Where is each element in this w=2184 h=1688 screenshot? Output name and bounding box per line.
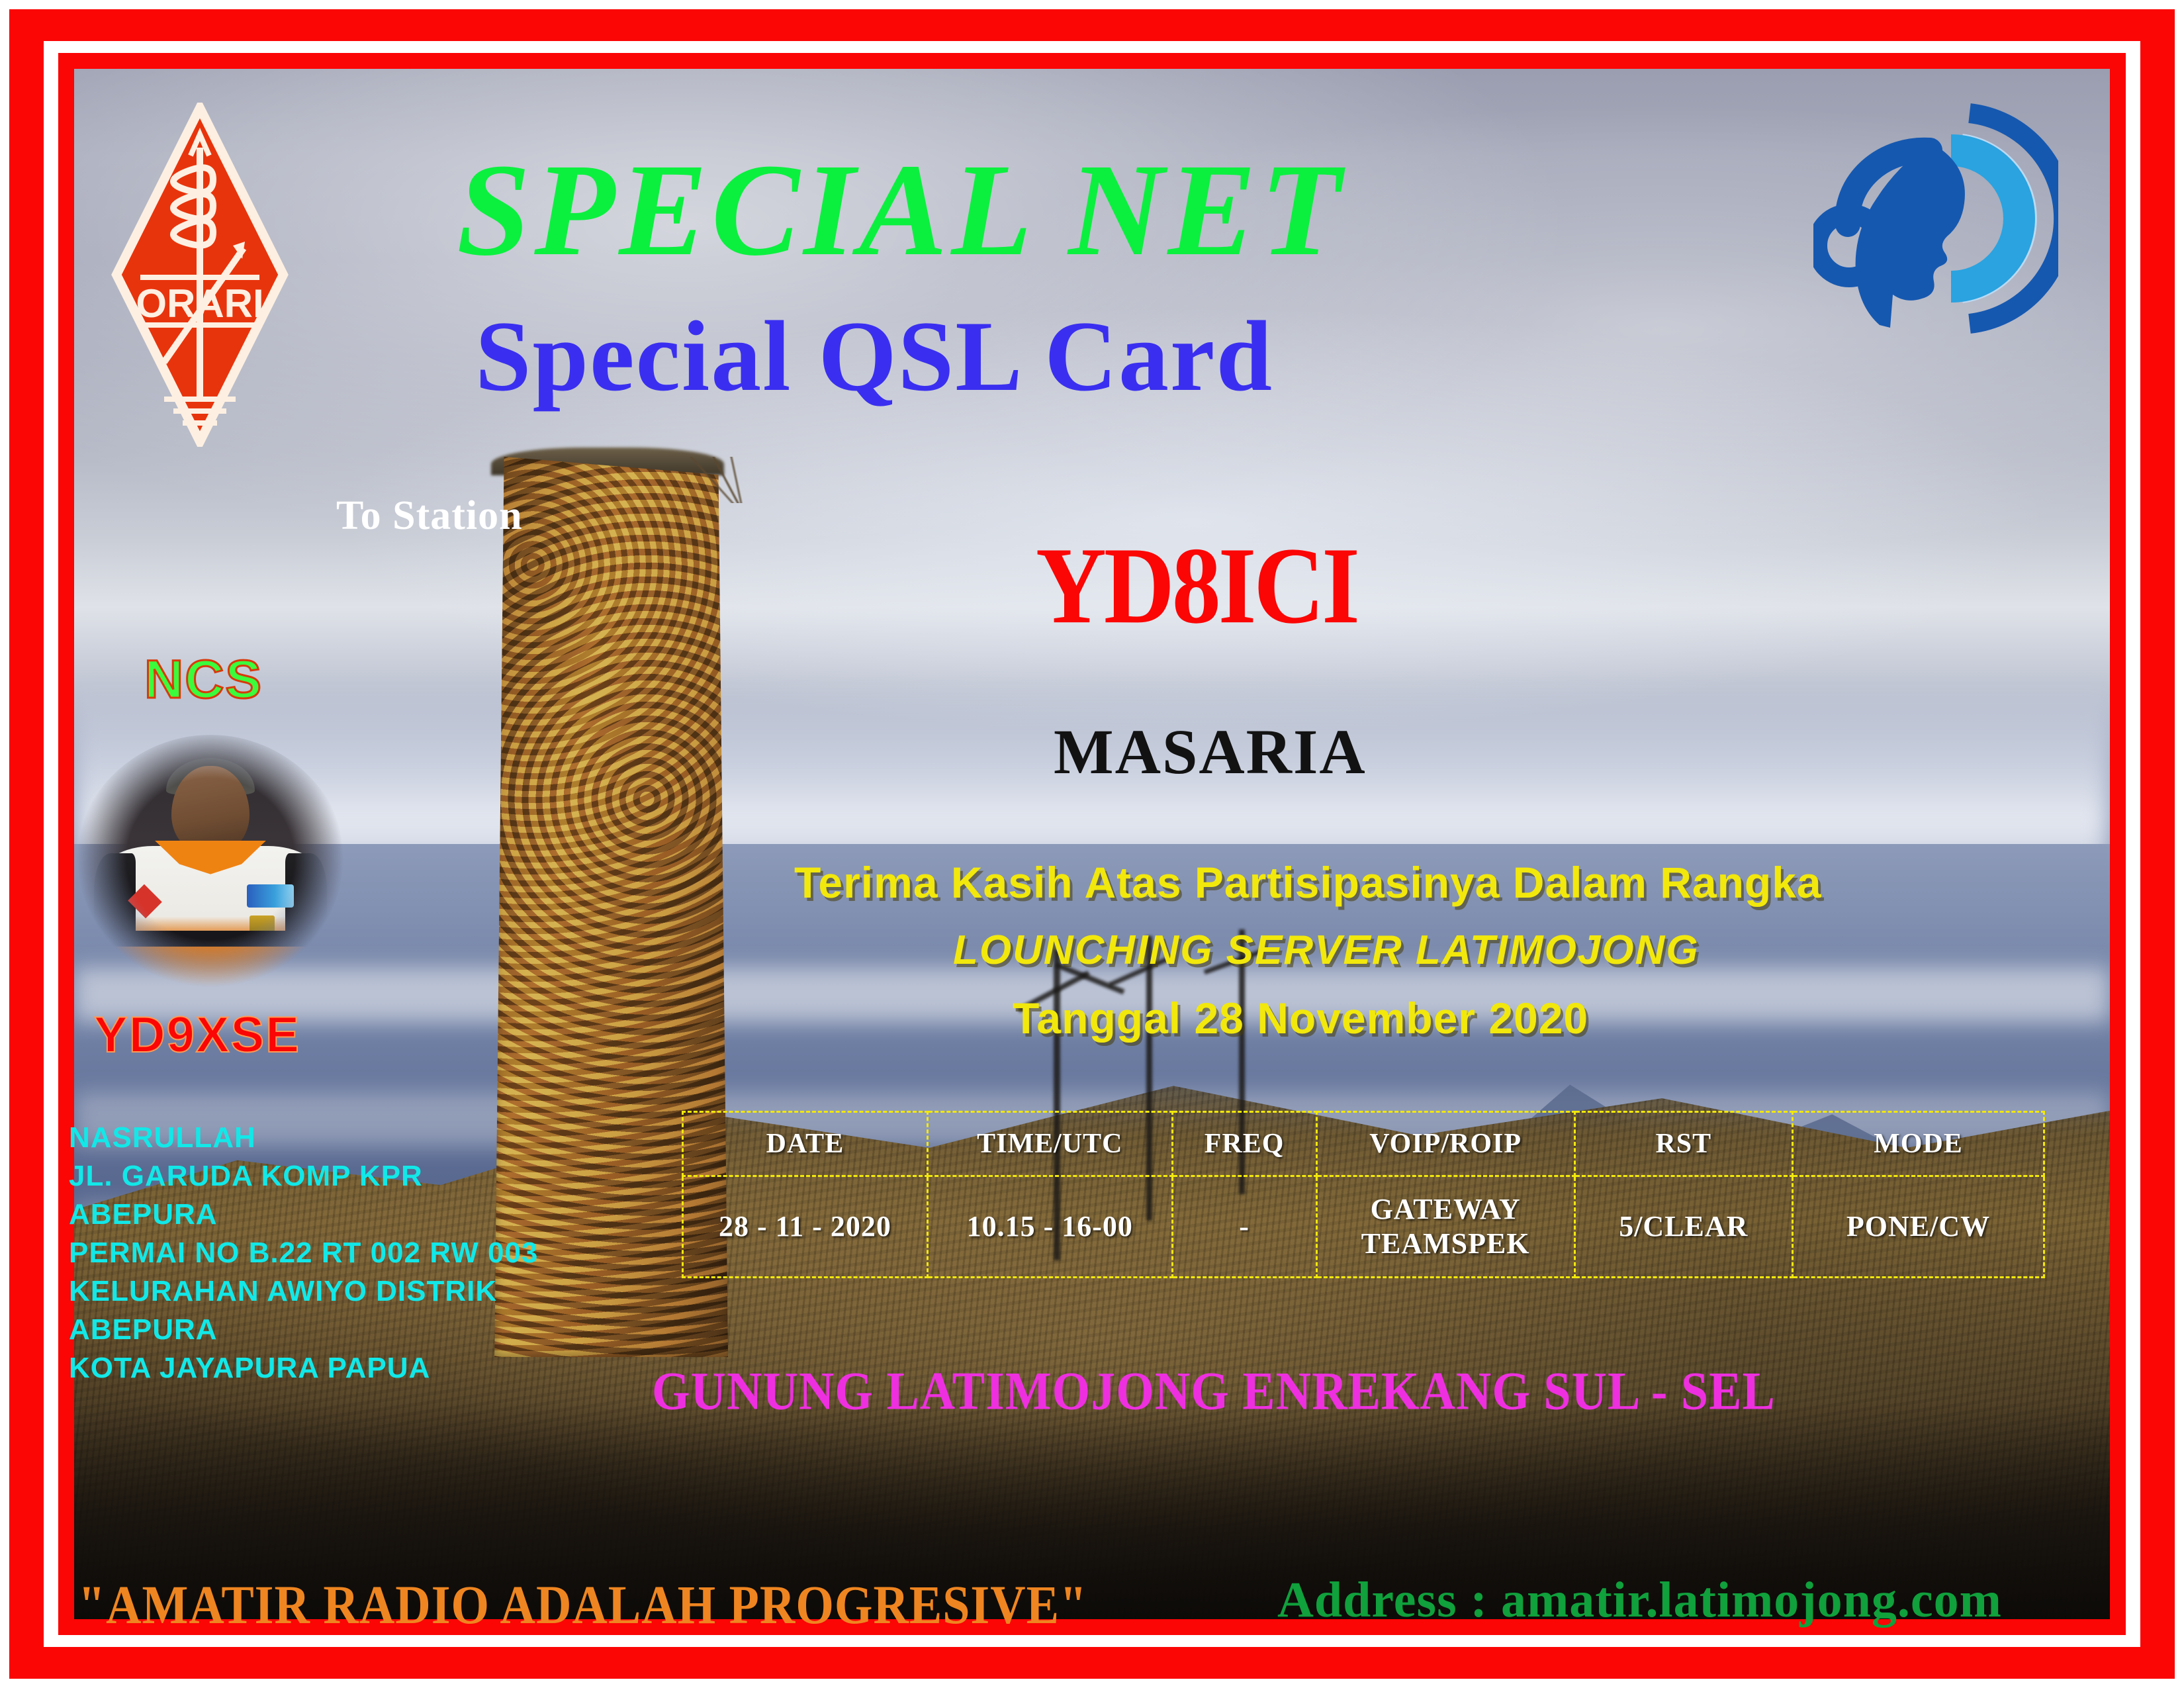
ncs-callsign: YD9XSE	[94, 1006, 300, 1064]
address-block: NASRULLAH JL. GARUDA KOMP KPR ABEPURA PE…	[69, 1119, 538, 1388]
footer-motto: "AMATIR RADIO ADALAH PROGRESIVE"	[78, 1574, 1087, 1637]
table-header-date: DATE	[683, 1112, 928, 1176]
event-name-line: LOUNCHING SERVER LATIMOJONG	[953, 927, 1700, 974]
address-line: KOTA JAYAPURA PAPUA	[69, 1349, 538, 1387]
event-thanks-line: Terima Kasih Atas Partisipasinya Dalam R…	[794, 857, 1822, 908]
portrait-belt	[111, 931, 310, 946]
cell-time: 10.15 - 16-00	[927, 1176, 1172, 1278]
cell-freq: -	[1172, 1176, 1316, 1278]
location-line: GUNUNG LATIMOJONG ENREKANG SUL - SEL	[652, 1361, 1776, 1423]
address-line: ABEPURA	[69, 1311, 538, 1349]
cell-voip-line1: GATEWAY	[1371, 1193, 1521, 1225]
table-header-rst: RST	[1574, 1112, 1792, 1176]
orari-logo: ORARI	[111, 103, 289, 447]
to-station-label: To Station	[336, 492, 523, 539]
address-line: JL. GARUDA KOMP KPR	[69, 1157, 538, 1196]
table-header-row: DATE TIME/UTC FREQ VOIP/ROIP RST MODE	[683, 1112, 2044, 1176]
cell-voip: GATEWAY TEAMSPEK	[1316, 1176, 1574, 1278]
station-callsign: YD8ICI	[1036, 523, 1357, 649]
latimojong-headset-logo	[1813, 103, 2058, 334]
page-title-special-net: SPECIAL NET	[457, 144, 1345, 277]
footer-address: Address : amatir.latimojong.com	[1277, 1571, 2002, 1629]
qsl-card: ORARI SPECIAL NET Special QSL Card To St…	[0, 0, 2184, 1688]
table-header-voip: VOIP/ROIP	[1316, 1112, 1574, 1176]
cell-voip-line2: TEAMSPEK	[1361, 1227, 1530, 1260]
orari-logo-text: ORARI	[136, 281, 263, 326]
address-line: PERMAI NO B.22 RT 002 RW 003	[69, 1234, 538, 1272]
address-line: NASRULLAH	[69, 1119, 538, 1157]
cell-rst: 5/CLEAR	[1574, 1176, 1792, 1278]
table-header-freq: FREQ	[1172, 1112, 1316, 1176]
station-operator-name: MASARIA	[1054, 715, 1367, 788]
portrait-chest-logo	[247, 884, 294, 908]
cairn-twigs	[682, 457, 774, 503]
address-line: ABEPURA	[69, 1196, 538, 1234]
portrait-face	[171, 766, 250, 854]
cell-mode: PONE/CW	[1792, 1176, 2044, 1278]
ncs-label: NCS	[144, 649, 263, 711]
avatar	[71, 735, 349, 993]
event-date-line: Tanggal 28 November 2020	[1013, 993, 1588, 1043]
subtitle-special-qsl-card: Special QSL Card	[475, 306, 1273, 406]
qso-details-table: DATE TIME/UTC FREQ VOIP/ROIP RST MODE 28…	[682, 1111, 2045, 1278]
table-row: 28 - 11 - 2020 10.15 - 16-00 - GATEWAY T…	[683, 1176, 2044, 1278]
cell-date: 28 - 11 - 2020	[683, 1176, 928, 1278]
table-header-mode: MODE	[1792, 1112, 2044, 1176]
table-header-time: TIME/UTC	[927, 1112, 1172, 1176]
ncs-operator-photo	[71, 735, 349, 993]
address-line: KELURAHAN AWIYO DISTRIK	[69, 1272, 538, 1311]
